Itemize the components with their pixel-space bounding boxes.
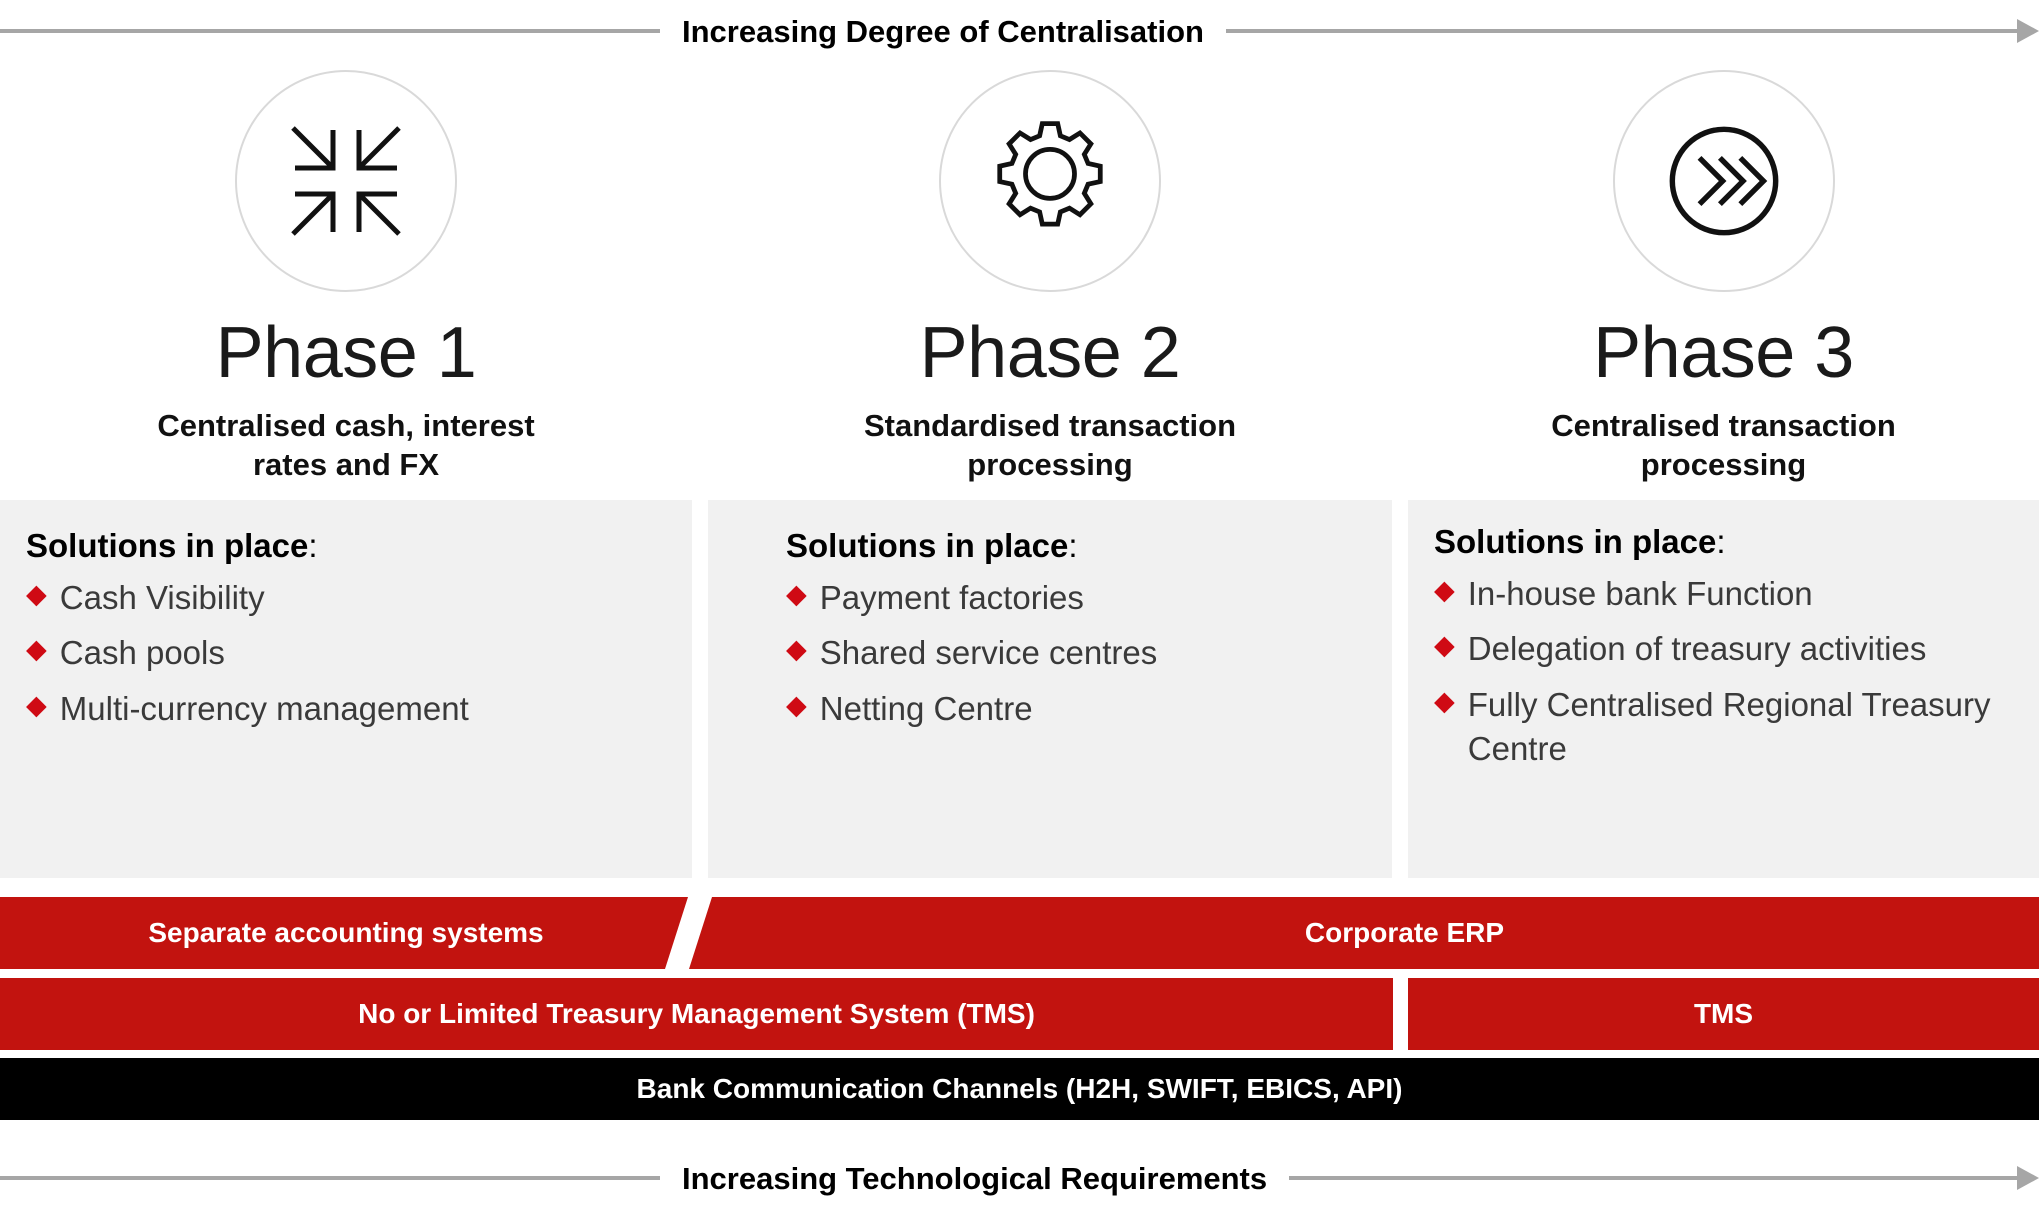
erp-bar-right-label-wrap: Corporate ERP	[770, 897, 2039, 969]
axis-bottom-label: Increasing Technological Requirements	[660, 1163, 1289, 1194]
erp-bar-left-label-wrap: Separate accounting systems	[0, 897, 692, 969]
solutions-heading-3: Solutions in place:	[1434, 522, 2019, 562]
list-item: ◆ Netting Centre	[786, 687, 1366, 732]
arrow-right-icon	[2017, 1166, 2039, 1190]
list-item: ◆ Cash pools	[26, 631, 666, 676]
axis-top-centralisation: Increasing Degree of Centralisation	[0, 8, 2039, 54]
axis-bottom-arrow	[1289, 1166, 2039, 1190]
list-item: ◆ Cash Visibility	[26, 576, 666, 621]
bank-bar-label: Bank Communication Channels (H2H, SWIFT,…	[637, 1075, 1403, 1103]
phase-3-subtitle: Centralised transaction processing	[1408, 406, 2039, 485]
phase-3-title: Phase 3	[1408, 316, 2039, 392]
list-item: ◆ Shared service centres	[786, 631, 1366, 676]
solutions-list-1: ◆ Cash Visibility ◆ Cash pools ◆ Multi-c…	[26, 576, 666, 732]
axis-bottom-line-left	[0, 1176, 660, 1180]
phase-header-3: Phase 3 Centralised transaction processi…	[1408, 70, 2039, 485]
double-chevron-circle-icon	[1656, 113, 1792, 249]
solutions-box-phase-1: Solutions in place: ◆ Cash Visibility ◆ …	[0, 500, 692, 878]
diamond-bullet-icon: ◆	[1434, 627, 1455, 663]
axis-top-line-right	[1226, 29, 2017, 33]
solution-label: Payment factories	[820, 576, 1084, 621]
diamond-bullet-icon: ◆	[1434, 572, 1455, 608]
axis-bottom-technology: Increasing Technological Requirements	[0, 1155, 2039, 1201]
solution-label: Delegation of treasury activities	[1468, 627, 1927, 672]
diamond-bullet-icon: ◆	[26, 687, 47, 723]
capability-bar-tms-right: TMS	[1408, 978, 2039, 1050]
axis-top-label: Increasing Degree of Centralisation	[660, 16, 1226, 47]
diamond-bullet-icon: ◆	[786, 631, 807, 667]
phase-2-subtitle: Standardised transaction processing	[708, 406, 1392, 485]
tms-bar-left-label: No or Limited Treasury Management System…	[358, 1000, 1035, 1028]
solutions-heading-1: Solutions in place:	[26, 526, 666, 566]
solution-label: Shared service centres	[820, 631, 1158, 676]
capability-bar-bank-channels: Bank Communication Channels (H2H, SWIFT,…	[0, 1058, 2039, 1120]
solution-label: Multi-currency management	[60, 687, 469, 732]
list-item: ◆ Payment factories	[786, 576, 1366, 621]
tms-bar-right-label: TMS	[1694, 1000, 1753, 1028]
arrow-right-icon	[2017, 19, 2039, 43]
solutions-heading-text-1: Solutions in place	[26, 527, 308, 564]
solutions-heading-colon-3: :	[1716, 523, 1725, 560]
phase-1-icon-circle	[235, 70, 457, 292]
capability-bar-tms-left: No or Limited Treasury Management System…	[0, 978, 1393, 1050]
solution-label: Cash Visibility	[60, 576, 265, 621]
axis-top-arrow	[1226, 19, 2039, 43]
gear-icon	[980, 111, 1120, 251]
list-item: ◆ Delegation of treasury activities	[1434, 627, 2019, 672]
solutions-list-2: ◆ Payment factories ◆ Shared service cen…	[786, 576, 1366, 732]
compress-arrows-icon	[281, 116, 411, 246]
solutions-box-phase-3: Solutions in place: ◆ In-house bank Func…	[1408, 500, 2039, 878]
phase-1-subtitle: Centralised cash, interest rates and FX	[0, 406, 692, 485]
diamond-bullet-icon: ◆	[1434, 683, 1455, 719]
diagram-canvas: Increasing Degree of Centralisation	[0, 0, 2039, 1209]
list-item: ◆ Multi-currency management	[26, 687, 666, 732]
solutions-list-3: ◆ In-house bank Function ◆ Delegation of…	[1434, 572, 2019, 772]
solution-label: In-house bank Function	[1468, 572, 1813, 617]
phase-2-icon-circle	[939, 70, 1161, 292]
solutions-heading-colon-1: :	[308, 527, 317, 564]
solutions-heading-2: Solutions in place:	[786, 526, 1366, 566]
phase-1-title: Phase 1	[0, 316, 692, 392]
diamond-bullet-icon: ◆	[786, 576, 807, 612]
axis-bottom-line-right	[1289, 1176, 2017, 1180]
phase-header-1: Phase 1 Centralised cash, interest rates…	[0, 70, 692, 485]
solutions-heading-text-2: Solutions in place	[786, 527, 1068, 564]
diamond-bullet-icon: ◆	[786, 687, 807, 723]
axis-top-line-left	[0, 29, 660, 33]
list-item: ◆ In-house bank Function	[1434, 572, 2019, 617]
list-item: ◆ Fully Centralised Regional Treasury Ce…	[1434, 683, 2019, 772]
phase-3-icon-circle	[1613, 70, 1835, 292]
diamond-bullet-icon: ◆	[26, 576, 47, 612]
solution-label: Fully Centralised Regional Treasury Cent…	[1468, 683, 2019, 772]
diamond-bullet-icon: ◆	[26, 631, 47, 667]
solution-label: Netting Centre	[820, 687, 1033, 732]
erp-bar-left-label: Separate accounting systems	[148, 919, 543, 947]
erp-bar-right-label: Corporate ERP	[1305, 919, 1504, 947]
phase-header-2: Phase 2 Standardised transaction process…	[708, 70, 1392, 485]
solution-label: Cash pools	[60, 631, 225, 676]
phase-2-title: Phase 2	[708, 316, 1392, 392]
solutions-box-phase-2: Solutions in place: ◆ Payment factories …	[708, 500, 1392, 878]
solutions-heading-text-3: Solutions in place	[1434, 523, 1716, 560]
solutions-heading-colon-2: :	[1068, 527, 1077, 564]
capability-bar-erp: Separate accounting systems Corporate ER…	[0, 897, 2039, 969]
